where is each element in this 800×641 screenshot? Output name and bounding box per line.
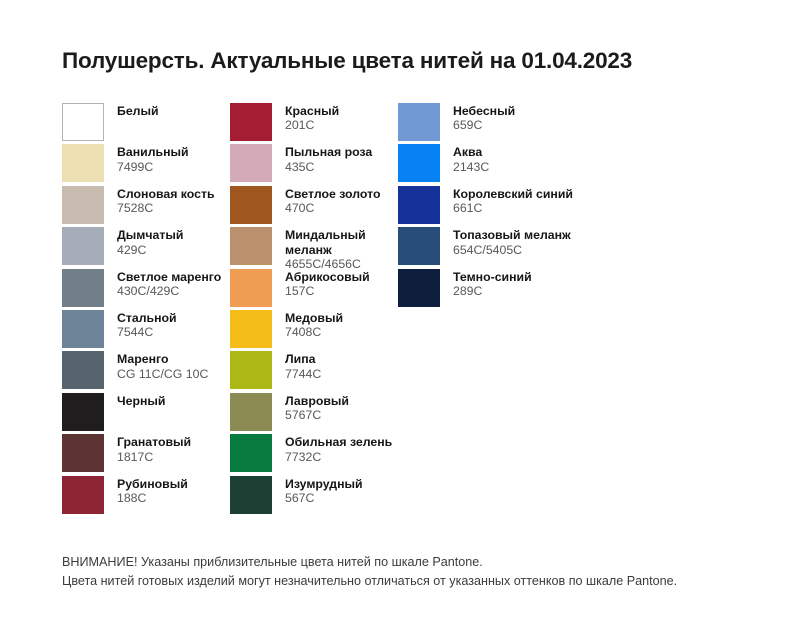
color-swatch bbox=[398, 186, 440, 224]
swatch-name: Гранатовый bbox=[117, 435, 191, 449]
swatch-name: Черный bbox=[117, 394, 165, 408]
swatch-code: 7544C bbox=[117, 325, 177, 339]
swatch-code: CG 11C/CG 10C bbox=[117, 367, 208, 381]
swatch-text: Дымчатый429C bbox=[117, 227, 183, 257]
swatch-name: Ванильный bbox=[117, 145, 189, 159]
swatch-name: Белый bbox=[117, 104, 159, 118]
swatch-row: Медовый7408C bbox=[230, 310, 398, 351]
swatch-row: Топазовый меланж654C/5405C bbox=[398, 227, 598, 268]
swatch-name: Маренго bbox=[117, 352, 208, 366]
color-swatch bbox=[398, 103, 440, 141]
swatch-row: МаренгоCG 11C/CG 10C bbox=[62, 351, 230, 392]
swatch-name: Стальной bbox=[117, 311, 177, 325]
color-swatch bbox=[230, 351, 272, 389]
swatch-text: Черный bbox=[117, 393, 165, 408]
color-swatch bbox=[62, 269, 104, 307]
palette-column-1: БелыйВанильный7499CСлоновая кость7528CДы… bbox=[62, 103, 230, 517]
color-swatch bbox=[230, 227, 272, 265]
swatch-name: Липа bbox=[285, 352, 321, 366]
swatch-text: Абрикосовый157C bbox=[285, 269, 370, 299]
swatch-text: Рубиновый188C bbox=[117, 476, 188, 506]
page-title: Полушерсть. Актуальные цвета нитей на 01… bbox=[62, 48, 632, 74]
swatch-row: Пыльная роза435C bbox=[230, 144, 398, 185]
palette-column-2: Красный201CПыльная роза435CСветлое золот… bbox=[230, 103, 398, 517]
swatch-name: Аква bbox=[453, 145, 489, 159]
swatch-code: 7499C bbox=[117, 160, 189, 174]
swatch-text: Небесный659C bbox=[453, 103, 515, 133]
swatch-text: Топазовый меланж654C/5405C bbox=[453, 227, 571, 257]
palette-column-3: Небесный659CАква2143CКоролевский синий66… bbox=[398, 103, 598, 310]
swatch-code: 7744C bbox=[285, 367, 321, 381]
swatch-text: Слоновая кость7528C bbox=[117, 186, 215, 216]
swatch-row: Аква2143C bbox=[398, 144, 598, 185]
swatch-name: Миндальный меланж bbox=[285, 228, 366, 257]
swatch-name: Лавровый bbox=[285, 394, 349, 408]
color-swatch bbox=[230, 310, 272, 348]
color-swatch bbox=[398, 227, 440, 265]
swatch-name: Светлое маренго bbox=[117, 270, 221, 284]
footnotes: ВНИМАНИЕ! Указаны приблизительные цвета … bbox=[62, 553, 677, 591]
swatch-code: 654C/5405C bbox=[453, 243, 571, 257]
swatch-name: Темно-синий bbox=[453, 270, 532, 284]
swatch-row: Стальной7544C bbox=[62, 310, 230, 351]
color-swatch bbox=[62, 310, 104, 348]
swatch-code: 7528C bbox=[117, 201, 215, 215]
swatch-name: Светлое золото bbox=[285, 187, 380, 201]
swatch-text: Пыльная роза435C bbox=[285, 144, 372, 174]
color-swatch bbox=[230, 269, 272, 307]
swatch-text: Королевский синий661C bbox=[453, 186, 573, 216]
swatch-text: Липа7744C bbox=[285, 351, 321, 381]
color-swatch bbox=[62, 476, 104, 514]
swatch-text: МаренгоCG 11C/CG 10C bbox=[117, 351, 208, 381]
swatch-code: 2143C bbox=[453, 160, 489, 174]
swatch-code: 1817C bbox=[117, 450, 191, 464]
swatch-name: Слоновая кость bbox=[117, 187, 215, 201]
swatch-row: Темно-синий289C bbox=[398, 269, 598, 310]
swatch-row: Лавровый5767C bbox=[230, 393, 398, 434]
swatch-text: Красный201C bbox=[285, 103, 339, 133]
swatch-row: Абрикосовый157C bbox=[230, 269, 398, 310]
swatch-row: Слоновая кость7528C bbox=[62, 186, 230, 227]
swatch-text: Аква2143C bbox=[453, 144, 489, 174]
swatch-text: Белый bbox=[117, 103, 159, 118]
color-swatch bbox=[398, 269, 440, 307]
swatch-code: 289C bbox=[453, 284, 532, 298]
swatch-code: 7732C bbox=[285, 450, 392, 464]
swatch-row: Рубиновый188C bbox=[62, 476, 230, 517]
swatch-code: 661C bbox=[453, 201, 573, 215]
swatch-code: 7408C bbox=[285, 325, 343, 339]
swatch-name: Изумрудный bbox=[285, 477, 363, 491]
swatch-name: Обильная зелень bbox=[285, 435, 392, 449]
swatch-text: Медовый7408C bbox=[285, 310, 343, 340]
swatch-text: Светлое маренго430C/429C bbox=[117, 269, 221, 299]
swatch-row: Черный bbox=[62, 393, 230, 434]
palette-columns: БелыйВанильный7499CСлоновая кость7528CДы… bbox=[62, 103, 752, 517]
color-swatch bbox=[230, 144, 272, 182]
swatch-text: Обильная зелень7732C bbox=[285, 434, 392, 464]
swatch-code: 157C bbox=[285, 284, 370, 298]
swatch-row: Миндальный меланж4655C/4656C bbox=[230, 227, 398, 268]
footnote-line: Цвета нитей готовых изделий могут незнач… bbox=[62, 572, 677, 591]
swatch-code: 429C bbox=[117, 243, 183, 257]
swatch-row: Изумрудный567C bbox=[230, 476, 398, 517]
color-swatch bbox=[230, 476, 272, 514]
swatch-row: Дымчатый429C bbox=[62, 227, 230, 268]
color-swatch bbox=[62, 144, 104, 182]
swatch-name: Красный bbox=[285, 104, 339, 118]
swatch-row: Белый bbox=[62, 103, 230, 144]
swatch-row: Светлое золото470C bbox=[230, 186, 398, 227]
swatch-code: 470C bbox=[285, 201, 380, 215]
swatch-text: Ванильный7499C bbox=[117, 144, 189, 174]
color-swatch bbox=[62, 186, 104, 224]
swatch-name: Пыльная роза bbox=[285, 145, 372, 159]
swatch-code: 201C bbox=[285, 118, 339, 132]
swatch-text: Гранатовый1817C bbox=[117, 434, 191, 464]
color-swatch bbox=[62, 434, 104, 472]
swatch-code: 659C bbox=[453, 118, 515, 132]
swatch-code: 5767C bbox=[285, 408, 349, 422]
color-swatch bbox=[230, 103, 272, 141]
swatch-text: Темно-синий289C bbox=[453, 269, 532, 299]
color-swatch bbox=[62, 351, 104, 389]
swatch-row: Ванильный7499C bbox=[62, 144, 230, 185]
footnote-line: ВНИМАНИЕ! Указаны приблизительные цвета … bbox=[62, 553, 677, 572]
swatch-row: Обильная зелень7732C bbox=[230, 434, 398, 475]
color-palette-page: Полушерсть. Актуальные цвета нитей на 01… bbox=[0, 0, 800, 641]
color-swatch bbox=[230, 434, 272, 472]
swatch-name: Медовый bbox=[285, 311, 343, 325]
swatch-text: Стальной7544C bbox=[117, 310, 177, 340]
color-swatch bbox=[62, 103, 104, 141]
swatch-row: Липа7744C bbox=[230, 351, 398, 392]
swatch-name: Абрикосовый bbox=[285, 270, 370, 284]
swatch-code: 430C/429C bbox=[117, 284, 221, 298]
swatch-row: Светлое маренго430C/429C bbox=[62, 269, 230, 310]
swatch-name: Дымчатый bbox=[117, 228, 183, 242]
color-swatch bbox=[62, 227, 104, 265]
swatch-name: Рубиновый bbox=[117, 477, 188, 491]
swatch-text: Изумрудный567C bbox=[285, 476, 363, 506]
swatch-text: Миндальный меланж4655C/4656C bbox=[285, 227, 366, 271]
color-swatch bbox=[398, 144, 440, 182]
swatch-name: Топазовый меланж bbox=[453, 228, 571, 242]
swatch-code: 567C bbox=[285, 491, 363, 505]
color-swatch bbox=[230, 393, 272, 431]
color-swatch bbox=[62, 393, 104, 431]
color-swatch bbox=[230, 186, 272, 224]
swatch-row: Королевский синий661C bbox=[398, 186, 598, 227]
swatch-row: Небесный659C bbox=[398, 103, 598, 144]
swatch-name: Королевский синий bbox=[453, 187, 573, 201]
swatch-text: Светлое золото470C bbox=[285, 186, 380, 216]
swatch-row: Гранатовый1817C bbox=[62, 434, 230, 475]
swatch-text: Лавровый5767C bbox=[285, 393, 349, 423]
swatch-code: 188C bbox=[117, 491, 188, 505]
swatch-code: 435C bbox=[285, 160, 372, 174]
swatch-row: Красный201C bbox=[230, 103, 398, 144]
swatch-name: Небесный bbox=[453, 104, 515, 118]
